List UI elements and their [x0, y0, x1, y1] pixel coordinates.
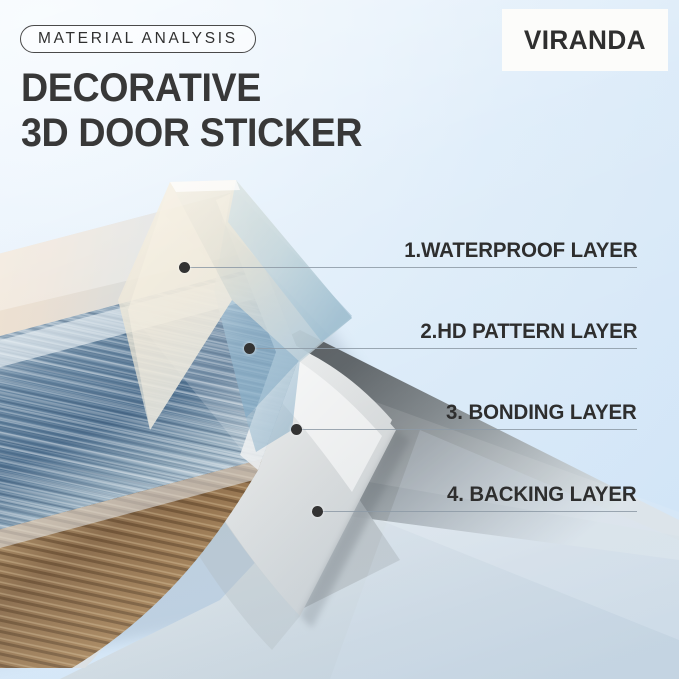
title-line-2: 3D DOOR STICKER [21, 111, 362, 156]
backdrop-haze [330, 430, 679, 679]
title-line-1: DECORATIVE [21, 66, 362, 111]
brand-name: VIRANDA [524, 25, 646, 56]
callout-leader-line [317, 511, 637, 512]
material-analysis-badge: MATERIAL ANALYSIS [20, 25, 256, 53]
contact-shadow [300, 430, 410, 628]
callout-label: 1.WATERPROOF LAYER [404, 238, 637, 263]
callout-leader-line [184, 267, 637, 268]
callout-label: 4. BACKING LAYER [447, 482, 637, 507]
bonding-peel-face [10, 322, 396, 668]
page-title: DECORATIVE 3D DOOR STICKER [21, 66, 384, 156]
hd-pattern-film-cone [214, 186, 352, 452]
photo-sheet-edge [216, 192, 300, 470]
backing-layer-shape [60, 408, 679, 679]
callout-label: 3. BONDING LAYER [446, 400, 637, 425]
badge-label: MATERIAL ANALYSIS [38, 30, 238, 48]
callout-dot [179, 262, 190, 273]
callout-leader-line [296, 429, 637, 430]
callout-leader-line [249, 348, 637, 349]
callout-dot [291, 424, 302, 435]
callout-dot [244, 343, 255, 354]
brand-logo: VIRANDA [502, 9, 668, 71]
callout-label: 2.HD PATTERN LAYER [420, 319, 637, 344]
callout-dot [312, 506, 323, 517]
printed-photo-sheet [0, 89, 401, 679]
poster-canvas: MATERIAL ANALYSIS DECORATIVE 3D DOOR STI… [0, 0, 679, 679]
bonding-shadow-wedge [196, 330, 679, 610]
waterproof-film-cone [118, 180, 352, 430]
sticker-drop-shadow [0, 215, 430, 668]
